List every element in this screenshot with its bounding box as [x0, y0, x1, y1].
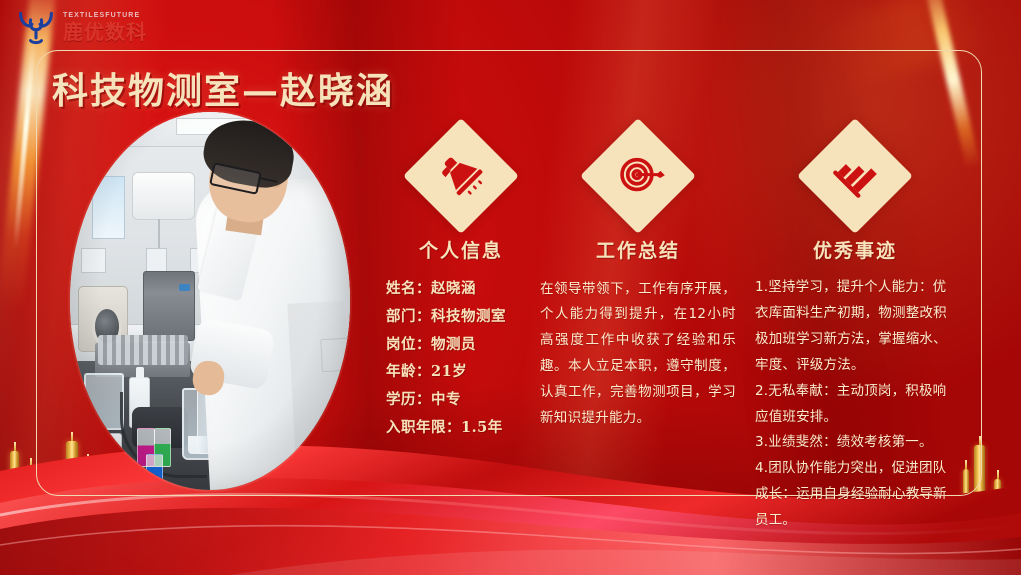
list-item: 入职年限：1.5年 [386, 414, 536, 442]
achievements-heading: 优秀事迹 [755, 236, 955, 263]
achievements-list: 1.坚持学习，提升个人能力：优衣库面料生产初期，物测整改积极加班学习新方法，掌握… [755, 275, 955, 534]
work-summary-text: 在领导带领下，工作有序开展，个人能力得到提升，在12小时高强度工作中收获了经验和… [540, 277, 736, 432]
list-item: 4.团队协作能力突出，促进团队成长：运用自身经验耐心教导新员工。 [755, 456, 955, 534]
list-item: 姓名：赵晓涵 [386, 275, 536, 303]
target-icon [607, 145, 670, 208]
lab-scene-image [70, 112, 350, 490]
page-title: 科技物测室—赵晓涵 [52, 62, 394, 114]
personal-info-list: 姓名：赵晓涵 部门：科技物测室 岗位：物测员 年龄：21岁 学历：中专 入职年限… [386, 275, 536, 442]
list-item: 2.无私奉献：主动顶岗，积极响应值班安排。 [755, 379, 955, 431]
list-item: 岗位：物测员 [386, 331, 536, 359]
megaphone-icon [430, 145, 492, 207]
section-work-summary: 工作总结 在领导带领下，工作有序开展，个人能力得到提升，在12小时高强度工作中收… [540, 120, 736, 445]
poster-canvas: TEXTILESFUTURE 鹿优数科 科技物测室—赵晓涵 [0, 0, 1021, 575]
personal-info-heading: 个人信息 [386, 236, 536, 263]
work-summary-heading: 工作总结 [540, 236, 736, 263]
personal-info-icon-badge [386, 120, 536, 232]
brand-english-name: TEXTILESFUTURE [63, 12, 147, 19]
list-item: 年龄：21岁 [386, 358, 536, 386]
section-achievements: 优秀事迹 1.坚持学习，提升个人能力：优衣库面料生产初期，物测整改积极加班学习新… [755, 120, 955, 534]
brand-logo[interactable]: TEXTILESFUTURE 鹿优数科 [16, 8, 147, 46]
portrait-photo [70, 112, 350, 490]
work-summary-icon-badge [540, 120, 736, 232]
section-personal-info: 个人信息 姓名：赵晓涵 部门：科技物测室 岗位：物测员 年龄：21岁 学历：中专… [386, 120, 536, 442]
list-item: 学历：中专 [386, 386, 536, 414]
bull-head-logo-icon [16, 8, 56, 46]
achievements-icon-badge [755, 120, 955, 232]
list-item: 1.坚持学习，提升个人能力：优衣库面料生产初期，物测整改积极加班学习新方法，掌握… [755, 275, 955, 379]
brand-chinese-name: 鹿优数科 [63, 22, 147, 42]
list-item: 部门：科技物测室 [386, 303, 536, 331]
list-item: 3.业绩斐然：绩效考核第一。 [755, 430, 955, 456]
bar-chart-icon [824, 145, 886, 207]
